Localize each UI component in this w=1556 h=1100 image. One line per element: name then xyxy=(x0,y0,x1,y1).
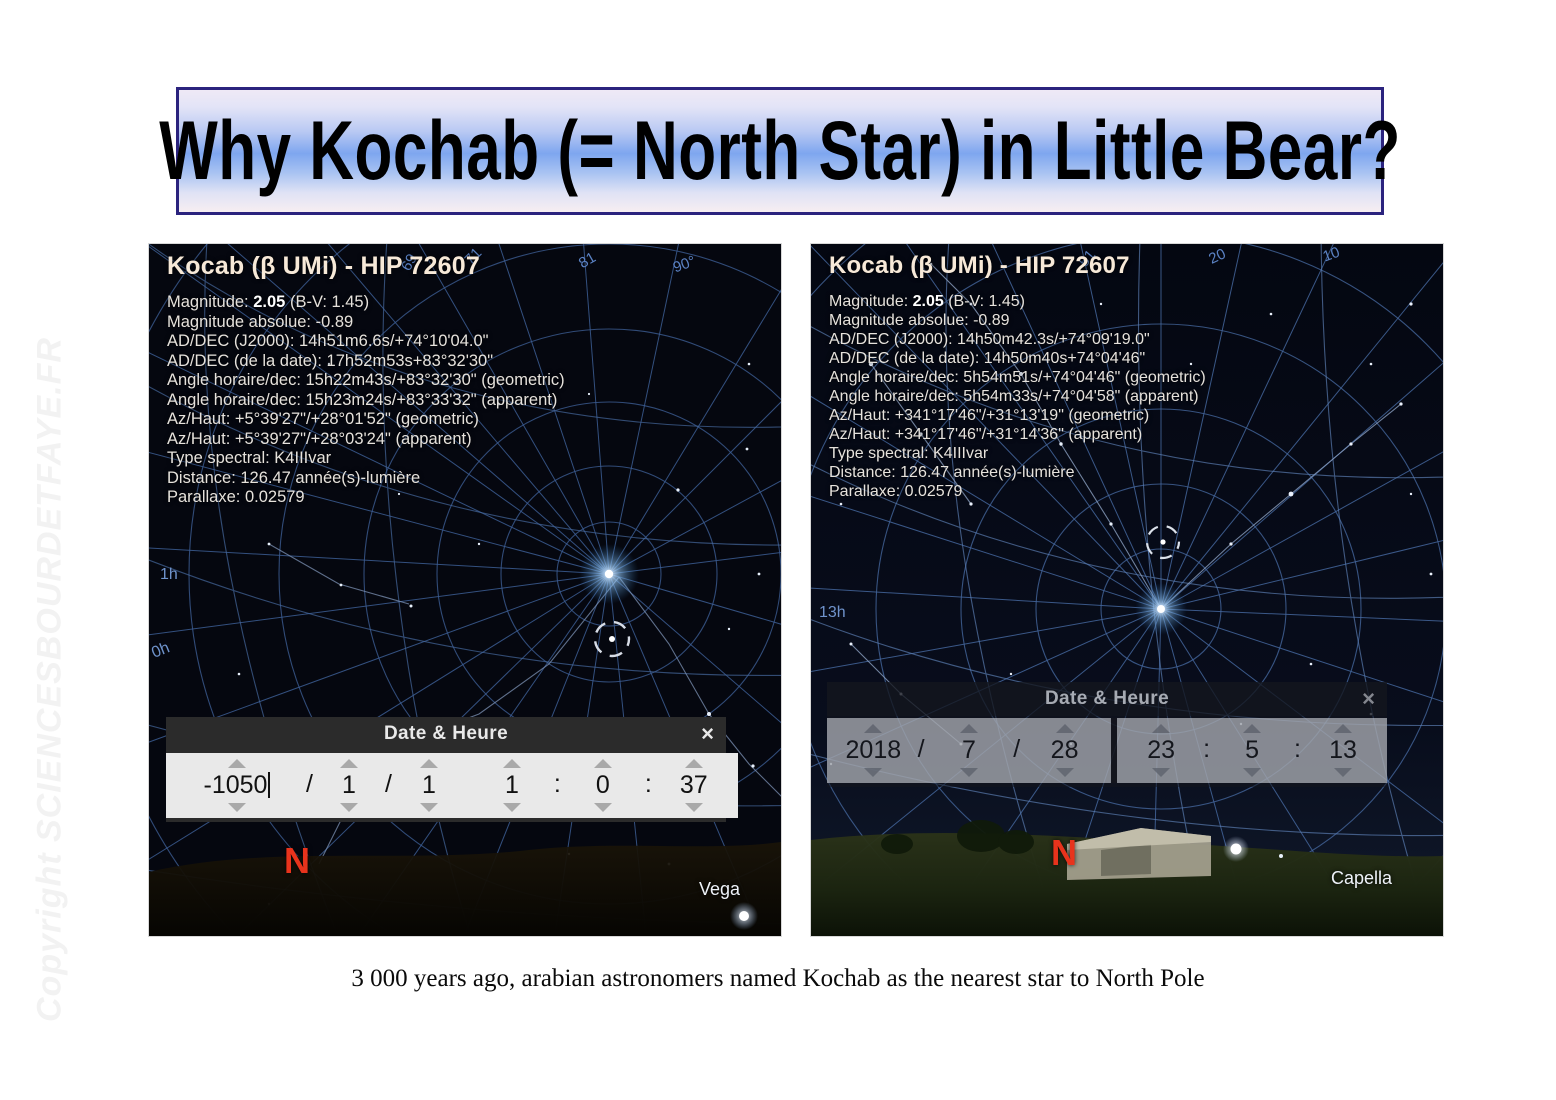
stellarium-screenshot-right: 51 20 10 13h Kocab (β UMi) - HIP 72607 M… xyxy=(811,244,1443,936)
cardinal-north-marker: N xyxy=(284,840,310,882)
minute-stepper[interactable]: 0 xyxy=(565,753,641,818)
time-separator-2: : xyxy=(1290,735,1305,764)
minute-increment-icon[interactable] xyxy=(1243,724,1261,733)
hour-value[interactable]: 1 xyxy=(482,768,542,803)
second-increment-icon[interactable] xyxy=(1334,724,1352,733)
title-banner: Why Kochab (= North Star) in Little Bear… xyxy=(176,87,1384,215)
date-field-group[interactable]: -1050 / 1 / 1 xyxy=(166,753,468,818)
year-increment-icon[interactable] xyxy=(228,759,246,768)
day-value[interactable]: 1 xyxy=(404,768,454,803)
month-increment-icon[interactable] xyxy=(960,724,978,733)
grid-label: 1h xyxy=(160,566,178,584)
month-value[interactable]: 7 xyxy=(945,733,993,768)
date-field-group[interactable]: 2018 / 7 / 28 xyxy=(827,718,1111,783)
month-decrement-icon[interactable] xyxy=(340,803,358,812)
second-increment-icon[interactable] xyxy=(685,759,703,768)
year-stepper[interactable]: 2018 xyxy=(833,718,914,783)
month-value[interactable]: 1 xyxy=(325,768,373,803)
second-value[interactable]: 37 xyxy=(664,768,724,803)
year-value[interactable]: -1050 xyxy=(180,768,294,803)
minute-value[interactable]: 0 xyxy=(573,768,633,803)
dialog-title: Date & Heure xyxy=(1045,688,1169,710)
time-field-group[interactable]: 1 : 0 : 37 xyxy=(468,753,738,818)
hour-decrement-icon[interactable] xyxy=(1152,768,1170,777)
day-decrement-icon[interactable] xyxy=(420,803,438,812)
minute-value[interactable]: 5 xyxy=(1222,733,1282,768)
day-increment-icon[interactable] xyxy=(1056,724,1074,733)
hour-increment-icon[interactable] xyxy=(1152,724,1170,733)
date-separator-2: / xyxy=(381,770,396,799)
star-label-vega: Vega xyxy=(699,879,740,900)
month-stepper[interactable]: 1 xyxy=(317,753,381,818)
hour-decrement-icon[interactable] xyxy=(503,803,521,812)
month-stepper[interactable]: 7 xyxy=(929,718,1010,783)
month-decrement-icon[interactable] xyxy=(960,768,978,777)
day-value[interactable]: 28 xyxy=(1037,733,1093,768)
minute-decrement-icon[interactable] xyxy=(1243,768,1261,777)
cardinal-north-marker: N xyxy=(1051,832,1077,874)
second-decrement-icon[interactable] xyxy=(1334,768,1352,777)
time-separator-2: : xyxy=(641,770,656,799)
time-separator-1: : xyxy=(550,770,565,799)
month-increment-icon[interactable] xyxy=(340,759,358,768)
close-icon[interactable]: × xyxy=(1362,688,1375,710)
second-stepper[interactable]: 37 xyxy=(656,753,732,818)
selection-reticle-right xyxy=(1142,521,1184,563)
minute-decrement-icon[interactable] xyxy=(594,803,612,812)
day-decrement-icon[interactable] xyxy=(1056,768,1074,777)
hour-stepper[interactable]: 23 xyxy=(1123,718,1199,783)
second-decrement-icon[interactable] xyxy=(685,803,703,812)
hour-stepper[interactable]: 1 xyxy=(474,753,550,818)
minute-increment-icon[interactable] xyxy=(594,759,612,768)
close-icon[interactable]: × xyxy=(701,723,714,745)
day-increment-icon[interactable] xyxy=(420,759,438,768)
selection-reticle-left xyxy=(591,618,633,660)
star-label-capella: Capella xyxy=(1331,868,1392,889)
date-time-dialog-left[interactable]: Date & Heure × -1050 / 1 / 1 xyxy=(166,717,726,822)
day-stepper[interactable]: 28 xyxy=(1024,718,1105,783)
second-value[interactable]: 13 xyxy=(1313,733,1373,768)
year-increment-icon[interactable] xyxy=(864,724,882,733)
grid-label: 13h xyxy=(819,604,846,622)
stellarium-screenshot-left: 69 71 81 90° 1h 0h Kocab (β UMi) - HIP 7… xyxy=(149,244,781,936)
time-separator-1: : xyxy=(1199,735,1214,764)
time-field-group[interactable]: 23 : 5 : 13 xyxy=(1117,718,1387,783)
year-stepper[interactable]: -1050 xyxy=(172,753,302,818)
slide-caption: 3 000 years ago, arabian astronomers nam… xyxy=(0,965,1556,993)
dialog-fields: 2018 / 7 / 28 xyxy=(827,716,1387,787)
second-stepper[interactable]: 13 xyxy=(1305,718,1381,783)
dialog-titlebar[interactable]: Date & Heure × xyxy=(166,717,726,751)
date-separator-1: / xyxy=(302,770,317,799)
minute-stepper[interactable]: 5 xyxy=(1214,718,1290,783)
date-separator-2: / xyxy=(1009,735,1024,764)
dialog-title: Date & Heure xyxy=(384,723,508,745)
date-separator-1: / xyxy=(914,735,929,764)
year-decrement-icon[interactable] xyxy=(864,768,882,777)
hour-value[interactable]: 23 xyxy=(1131,733,1191,768)
dialog-titlebar[interactable]: Date & Heure × xyxy=(827,682,1387,716)
sky-chart-right xyxy=(811,244,1443,936)
hour-increment-icon[interactable] xyxy=(503,759,521,768)
day-stepper[interactable]: 1 xyxy=(396,753,462,818)
year-decrement-icon[interactable] xyxy=(228,803,246,812)
year-value[interactable]: 2018 xyxy=(828,733,918,768)
date-time-dialog-right[interactable]: Date & Heure × 2018 / 7 / 28 xyxy=(827,682,1387,787)
sky-chart-left xyxy=(149,244,781,936)
page-title: Why Kochab (= North Star) in Little Bear… xyxy=(159,103,1401,199)
dialog-fields: -1050 / 1 / 1 xyxy=(166,751,726,822)
